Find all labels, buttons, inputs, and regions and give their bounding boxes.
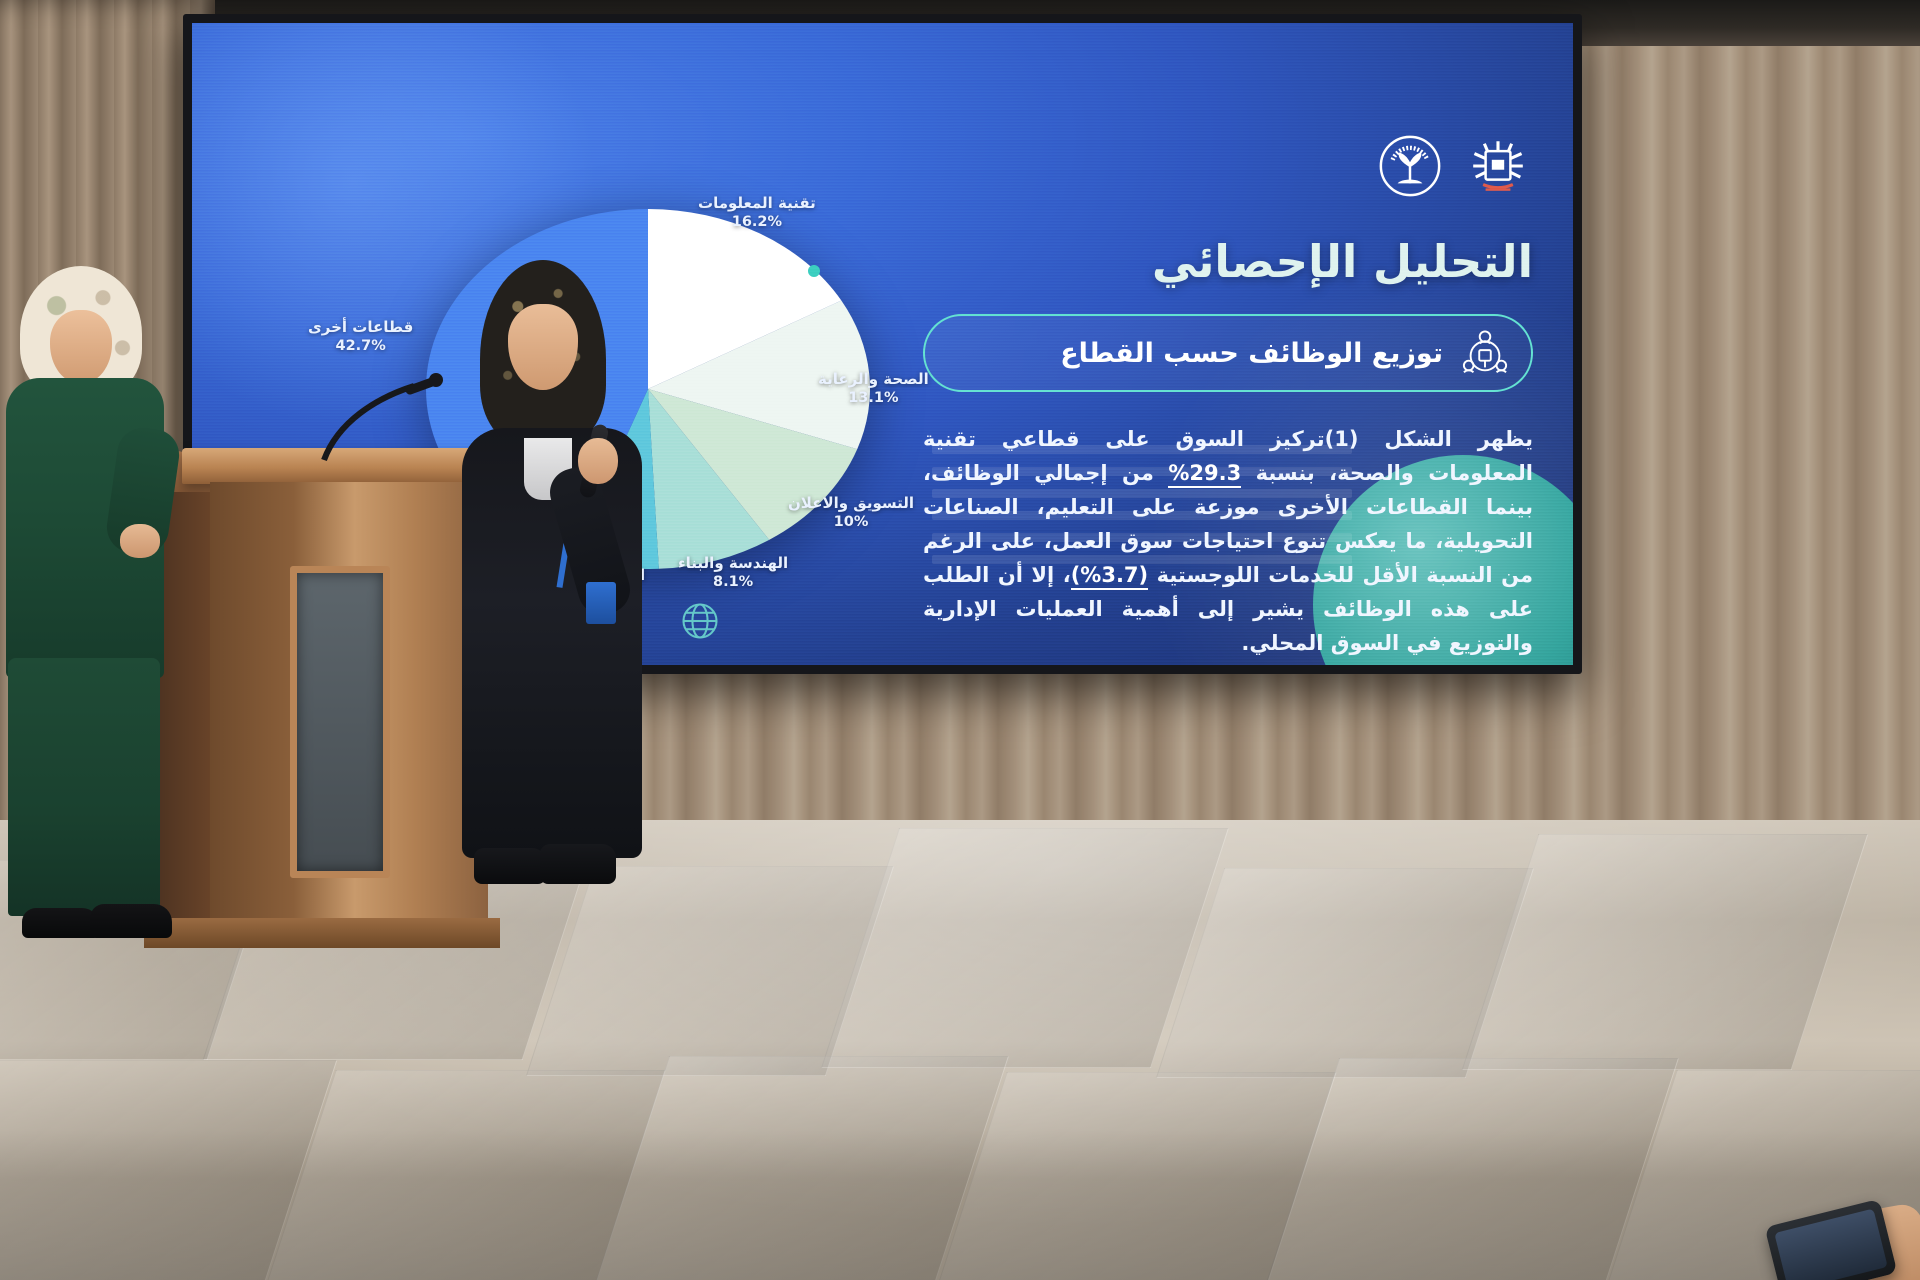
pie-label-engineering: الهندسة والبناء 8.1%: [678, 553, 788, 593]
slide-title: التحليل الإحصائي: [923, 235, 1533, 288]
podium-panel-inset: [290, 566, 390, 878]
speaker-shoe-right: [540, 844, 616, 884]
attendee-shoe-left: [22, 908, 100, 938]
pie-label-health-name: الصحة والرعاية: [818, 369, 929, 389]
section-pill-label: توزيع الوظائف حسب القطاع: [1060, 338, 1443, 369]
body-highlight-2: (3.7%): [1071, 563, 1148, 590]
pie-label-marketing-value: 10%: [834, 514, 869, 530]
speaker-shoe-left: [474, 848, 546, 884]
network-people-icon: [1461, 329, 1509, 377]
speaker-at-podium: [468, 252, 668, 912]
pie-label-it: تقنية المعلومات 16.2%: [698, 193, 816, 233]
decorative-dot: [808, 265, 820, 277]
podium-base: [144, 918, 500, 948]
body-highlight-1: 29.3%: [1168, 461, 1241, 488]
pie-label-other: قطاعات أخرى 42.7%: [308, 317, 413, 357]
pie-label-engineering-name: الهندسة والبناء: [678, 553, 788, 573]
conference-scene: التحليل الإحصائي توزيع الوظائف حسب القطا…: [0, 0, 1920, 1280]
pie-label-engineering-value: 8.1%: [713, 574, 753, 590]
slide-text-column: التحليل الإحصائي توزيع الوظائف حسب القطا…: [923, 235, 1533, 660]
microphone-stand: [318, 372, 446, 468]
pie-label-marketing: التسويق والاعلان 10%: [788, 493, 914, 533]
globe-icon: [678, 599, 722, 643]
speaker-name-badge: [586, 582, 616, 624]
pie-label-other-value: 42.7%: [335, 338, 385, 354]
section-pill: توزيع الوظائف حسب القطاع: [923, 314, 1533, 392]
pie-label-health-value: 13.1%: [848, 390, 898, 406]
pie-label-marketing-name: التسويق والاعلان: [788, 493, 914, 513]
university-of-tripoli-logo: [1467, 135, 1529, 197]
attendee-skirt: [8, 658, 160, 916]
attendee-hand: [120, 524, 160, 558]
pie-label-other-name: قطاعات أخرى: [308, 317, 413, 337]
speaker-hand: [578, 438, 618, 484]
tree-emblem-logo: [1379, 135, 1441, 197]
wooden-podium: [210, 448, 488, 946]
pie-label-health: الصحة والرعاية 13.1%: [818, 369, 929, 409]
standing-attendee: [16, 256, 196, 956]
slide-body-paragraph: يظهر الشكل (1)تركيز السوق على قطاعي تقني…: [923, 422, 1533, 660]
pie-label-it-value: 16.2%: [732, 214, 782, 230]
attendee-shoe-right: [90, 904, 172, 938]
floor-shadow-gradient: [0, 1130, 1920, 1280]
pie-label-it-name: تقنية المعلومات: [698, 193, 816, 213]
logo-row: [1379, 135, 1529, 197]
